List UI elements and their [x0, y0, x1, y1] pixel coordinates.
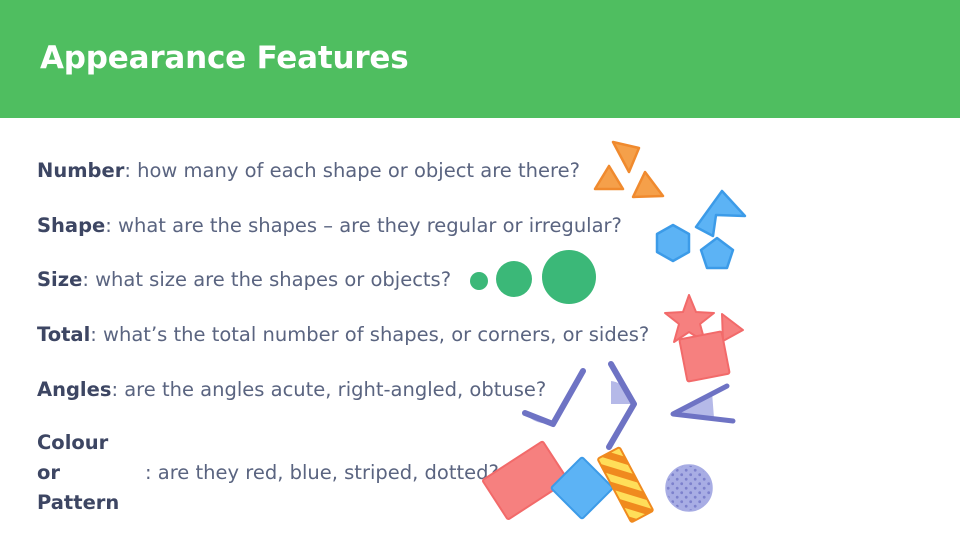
orange-triangle-icon-1: [613, 142, 639, 172]
feature-row-angles: Angles: are the angles acute, right-angl…: [37, 380, 546, 400]
green-circle-large-icon: [542, 250, 596, 304]
feature-row-shape: Shape: what are the shapes – are they re…: [37, 216, 622, 236]
pattern-shapes-group: [482, 441, 712, 522]
blue-irregular-quadrilateral-icon: [696, 191, 745, 236]
feature-term-angles: Angles: [37, 378, 111, 401]
feature-term-total: Total: [37, 323, 90, 346]
feature-term-colour-stack: Colour or Pattern: [37, 428, 137, 518]
feature-term-colour-line-3: Pattern: [37, 488, 137, 518]
feature-term-number: Number: [37, 159, 124, 182]
red-rotated-square-icon: [679, 331, 729, 381]
red-triangle-icon: [722, 314, 743, 341]
feature-desc-shape: : what are the shapes – are they regular…: [105, 214, 622, 237]
orange-triangles-group: [595, 142, 663, 197]
feature-desc-colour: : are they red, blue, striped, dotted?: [145, 458, 499, 488]
blue-diamond-icon: [551, 457, 613, 519]
angles-group: [525, 364, 733, 447]
green-circle-small-icon: [470, 272, 488, 290]
feature-term-size: Size: [37, 268, 82, 291]
feature-term-colour-line-2: or: [37, 458, 137, 488]
purple-dotted-circle-icon: [666, 465, 712, 511]
feature-desc-total: : what’s the total number of shapes, or …: [90, 323, 649, 346]
feature-desc-angles: : are the angles acute, right-angled, ob…: [111, 378, 546, 401]
slide-canvas: Appearance Features Number: how many of …: [0, 0, 960, 540]
feature-term-colour-line-1: Colour: [37, 428, 137, 458]
red-shapes-group: [665, 295, 743, 382]
orange-striped-bar-icon: [598, 447, 654, 522]
right-angle-icon: [609, 364, 634, 447]
orange-triangle-icon-2: [595, 166, 623, 189]
feature-row-size: Size: what size are the shapes or object…: [37, 270, 451, 290]
feature-row-number: Number: how many of each shape or object…: [37, 161, 580, 181]
red-star-icon: [665, 295, 714, 342]
green-circles-group: [470, 250, 596, 304]
feature-desc-size: : what size are the shapes or objects?: [82, 268, 451, 291]
blue-shapes-group: [657, 191, 745, 268]
feature-desc-number: : how many of each shape or object are t…: [124, 159, 580, 182]
orange-triangle-icon-3: [633, 172, 663, 197]
acute-angle-icon: [673, 386, 733, 421]
blue-pentagon-icon: [701, 238, 733, 268]
feature-term-shape: Shape: [37, 214, 105, 237]
page-title: Appearance Features: [40, 40, 409, 76]
blue-hexagon-icon: [657, 225, 689, 261]
feature-row-total: Total: what’s the total number of shapes…: [37, 325, 649, 345]
green-circle-medium-icon: [496, 261, 532, 297]
